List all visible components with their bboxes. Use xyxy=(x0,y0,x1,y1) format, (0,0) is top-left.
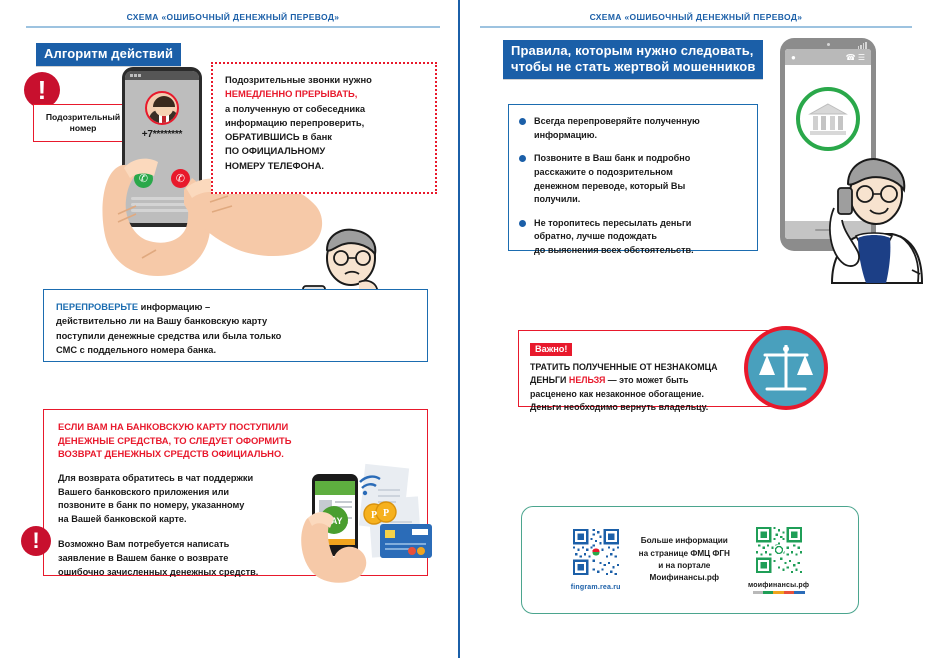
rule-3-line-3: до выяснения всех обстоятельств. xyxy=(534,244,747,258)
caller-avatar xyxy=(145,91,179,125)
important-line-2-suffix: — это может быть xyxy=(605,375,688,385)
rules-badge-line-1: Правила, которым нужно следовать, xyxy=(511,43,755,59)
footer-center-line-1: Больше информации xyxy=(639,535,730,547)
callout-line-6: ПО ОФИЦИАЛЬНОМУ xyxy=(225,144,425,158)
important-line-3: расценено как незаконное обогащение. xyxy=(530,388,775,401)
right-header-rule xyxy=(480,26,912,28)
callout-line-1: Подозрительные звонки нужно xyxy=(225,73,425,87)
hamburger-menu-icon[interactable]: ☰ xyxy=(858,53,865,62)
recheck-line-2: действительно ли на Вашу банковскую карт… xyxy=(56,314,415,328)
recheck-line-3: поступили денежные средства или была тол… xyxy=(56,329,415,343)
refund-p1-line-4: на Вашей банковской карте. xyxy=(58,513,308,527)
algorithm-title-badge: Алгоритм действий xyxy=(36,43,181,66)
refund-heading-line-1: ЕСЛИ ВАМ НА БАНКОВСКУЮ КАРТУ ПОСТУПИЛИ xyxy=(58,420,415,434)
footer-center-line-3: и на портале xyxy=(639,560,730,572)
caller-number: +7******** xyxy=(125,129,199,140)
important-tag: Важно! xyxy=(530,343,572,356)
bullet-icon xyxy=(519,220,526,227)
important-line-4: Деньги необходимо вернуть владельцу. xyxy=(530,401,775,414)
refund-paragraph-1: Для возврата обратитесь в чат поддержки … xyxy=(58,472,308,527)
rules-badge-line-2: чтобы не стать жертвой мошенников xyxy=(511,59,755,75)
qr-block-fingram[interactable]: fingram.rea.ru xyxy=(571,529,621,591)
important-line-2-prefix: ДЕНЬГИ xyxy=(530,375,569,385)
qr-caption-fingram: fingram.rea.ru xyxy=(571,584,621,591)
recheck-lead-rest: информацию – xyxy=(138,302,210,312)
callout-warning-box: Подозрительные звонки нужно НЕМЕДЛЕННО П… xyxy=(211,62,437,194)
man-calling-bank-illustration xyxy=(818,150,930,285)
recheck-line-4: СМС с поддельного номера банка. xyxy=(56,343,415,357)
important-line-2-highlight: НЕЛЬЗЯ xyxy=(569,375,605,385)
refund-exclamation-glyph: ! xyxy=(32,530,39,552)
callout-line-7: НОМЕРУ ТЕЛЕФОНА. xyxy=(225,159,425,173)
footer-qr-card: fingram.rea.ru Больше информации на стра… xyxy=(521,506,859,614)
refund-heading-line-3: ВОЗВРАТ ДЕНЕЖНЫХ СРЕДСТВ ОФИЦИАЛЬНО. xyxy=(58,447,415,461)
refund-p2-line-2: заявление в Вашем банке о возврате xyxy=(58,552,308,566)
bank-building-icon xyxy=(796,87,860,151)
refund-p1-line-3: позвоните в банк по номеру, указанному xyxy=(58,499,308,513)
bullet-icon xyxy=(519,118,526,125)
refund-p1-line-1: Для возврата обратитесь в чат поддержки xyxy=(58,472,308,486)
svg-text:P: P xyxy=(371,510,377,521)
rule-2-line-1: Позвоните в Ваш банк и подробно xyxy=(534,152,747,166)
footer-center-line-4: Моифинансы.рф xyxy=(639,572,730,584)
warning-exclamation-icon: ! xyxy=(24,72,60,108)
left-panel-header: СХЕМА «ОШИБОЧНЫЙ ДЕНЕЖНЫЙ ПЕРЕВОД» xyxy=(26,12,440,28)
footer-center-text: Больше информации на странице ФМЦ ФГН и … xyxy=(639,535,730,584)
mobile-payment-illustration: PAY P P xyxy=(300,462,440,587)
rule-2-line-2: расскажите о подозрительном xyxy=(534,166,747,180)
qr-color-bar xyxy=(753,591,805,594)
rule-item-1: Всегда перепроверяйте полученную информа… xyxy=(519,115,747,142)
infographic-page: СХЕМА «ОШИБОЧНЫЙ ДЕНЕЖНЫЙ ПЕРЕВОД» СХЕМА… xyxy=(0,0,930,658)
suspicious-number-text: Подозрительный номер xyxy=(34,112,132,133)
scales-of-justice-icon xyxy=(744,326,828,410)
qr-caption-moifinansy: моифинансы.рф xyxy=(748,582,809,589)
rule-3-line-2: обратно, лучше подождать xyxy=(534,230,747,244)
bullet-icon xyxy=(519,155,526,162)
important-line-1: ТРАТИТЬ ПОЛУЧЕННЫЕ ОТ НЕЗНАКОМЦА xyxy=(530,361,775,374)
qr-block-moifinansy[interactable]: моифинансы.рф xyxy=(748,527,809,594)
signal-bars-icon xyxy=(858,42,867,49)
callout-line-5: ОБРАТИВШИСЬ в банк xyxy=(225,130,425,144)
bank-app-topbar: ● ☎ ☰ xyxy=(785,49,871,65)
right-panel-header: СХЕМА «ОШИБОЧНЫЙ ДЕНЕЖНЫЙ ПЕРЕВОД» xyxy=(480,12,912,28)
exclamation-glyph: ! xyxy=(38,77,47,103)
appbar-right-icons: ☎ ☰ xyxy=(846,53,865,62)
refund-p2-line-1: Возможно Вам потребуется написать xyxy=(58,538,308,552)
svg-text:P: P xyxy=(383,508,389,519)
refund-heading-line-2: ДЕНЕЖНЫЕ СРЕДСТВА, ТО СЛЕДУЕТ ОФОРМИТЬ xyxy=(58,434,415,448)
rule-item-3: Не торопитесь пересылать деньги обратно,… xyxy=(519,217,747,258)
phone-handset-icon[interactable]: ☎ xyxy=(846,53,856,62)
qr-code-fingram-icon[interactable] xyxy=(573,529,619,575)
profile-avatar-icon[interactable]: ● xyxy=(791,53,796,62)
right-panel-title: СХЕМА «ОШИБОЧНЫЙ ДЕНЕЖНЫЙ ПЕРЕВОД» xyxy=(480,12,912,22)
left-header-rule xyxy=(26,26,440,28)
qr-code-moifinansy-icon[interactable] xyxy=(756,527,802,573)
refund-p2-line-3: ошибочно зачисленных денежных средств. xyxy=(58,566,308,580)
refund-p1-line-2: Вашего банковского приложения или xyxy=(58,486,308,500)
recheck-info-box: ПЕРЕПРОВЕРЬТЕ информацию – действительно… xyxy=(43,289,428,362)
rule-2-line-3: денежном переводе, который Вы xyxy=(534,180,747,194)
rule-3-line-1: Не торопитесь пересылать деньги xyxy=(534,217,747,231)
rule-item-2: Позвоните в Ваш банк и подробно расскажи… xyxy=(519,152,747,207)
footer-center-line-2: на странице ФМЦ ФГН xyxy=(639,548,730,560)
rules-list-box: Всегда перепроверяйте полученную информа… xyxy=(508,104,758,251)
important-line-2: ДЕНЬГИ НЕЛЬЗЯ — это может быть xyxy=(530,374,775,387)
rule-2-line-4: получили. xyxy=(534,193,747,207)
rules-list: Всегда перепроверяйте полученную информа… xyxy=(519,115,747,258)
rules-title-badge: Правила, которым нужно следовать, чтобы … xyxy=(503,40,763,79)
callout-line-2-highlight: НЕМЕДЛЕННО ПРЕРЫВАТЬ, xyxy=(225,87,425,101)
recheck-lead: ПЕРЕПРОВЕРЬТЕ xyxy=(56,302,138,312)
refund-paragraph-2: Возможно Вам потребуется написать заявле… xyxy=(58,538,308,579)
suspicious-number-label: Подозрительный номер xyxy=(33,104,133,142)
phone-statusbar xyxy=(125,71,199,80)
left-panel-title: СХЕМА «ОШИБОЧНЫЙ ДЕНЕЖНЫЙ ПЕРЕВОД» xyxy=(26,12,440,22)
callout-line-3: а полученную от собеседника xyxy=(225,102,425,116)
center-divider xyxy=(458,0,460,658)
refund-exclamation-icon: ! xyxy=(21,526,51,556)
rule-1-line-2: информацию. xyxy=(534,129,747,143)
callout-line-4: информацию перепроверить, xyxy=(225,116,425,130)
rule-1-line-1: Всегда перепроверяйте полученную xyxy=(534,115,747,129)
